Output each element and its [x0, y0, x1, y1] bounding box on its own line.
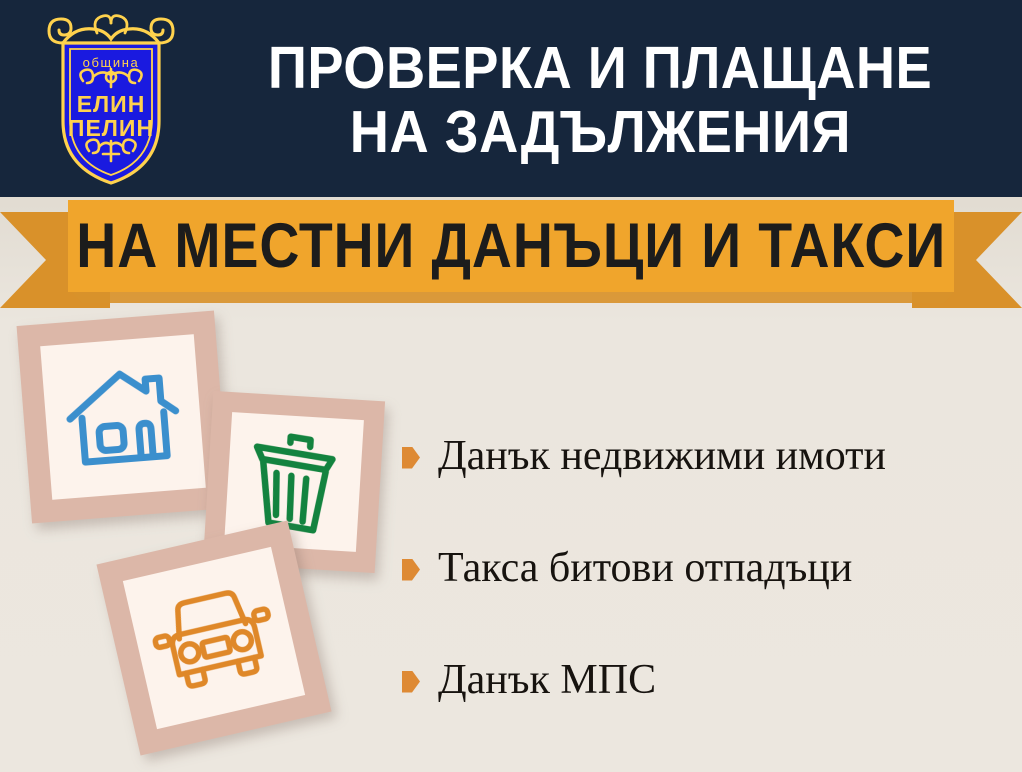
- list-item-label: Такса битови отпадъци: [438, 547, 852, 589]
- list-item[interactable]: Данък недвижими имоти: [402, 430, 1012, 482]
- arrow-bullet-icon: [402, 671, 420, 693]
- car-icon: [144, 578, 284, 699]
- svg-text:ЕЛИН: ЕЛИН: [77, 91, 146, 117]
- list-item-label: Данък недвижими имоти: [438, 435, 886, 477]
- stamp-card-house: [17, 311, 230, 524]
- house-icon: [60, 361, 186, 474]
- svg-text:ПЕЛИН: ПЕЛИН: [68, 115, 154, 141]
- list-item[interactable]: Такса битови отпадъци: [402, 542, 1012, 594]
- arrow-bullet-icon: [402, 447, 420, 469]
- ribbon-shadow: [72, 292, 954, 303]
- ribbon-label: НА МЕСТНИ ДАНЪЦИ И ТАКСИ: [76, 215, 946, 278]
- municipality-logo: община ЕЛИН ПЕЛИН: [41, 9, 181, 189]
- list-item[interactable]: Данък МПС: [402, 654, 1012, 706]
- ribbon-bar: НА МЕСТНИ ДАНЪЦИ И ТАКСИ: [68, 200, 954, 292]
- title-line-2: НА ЗАДЪЛЖЕНИЯ: [349, 101, 850, 164]
- list-item-label: Данък МПС: [438, 659, 656, 701]
- arrow-bullet-icon: [402, 559, 420, 581]
- stamp-paper: [40, 334, 206, 500]
- title-line-1: ПРОВЕРКА И ПЛАЩАНЕ: [268, 37, 932, 100]
- trash-bin-icon: [243, 427, 345, 537]
- tax-type-list: Данък недвижими имоти Такса битови отпад…: [402, 430, 1012, 706]
- page-title: ПРОВЕРКА И ПЛАЩАНЕ НА ЗАДЪЛЖЕНИЯ: [190, 18, 1010, 183]
- subtitle-ribbon: НА МЕСТНИ ДАНЪЦИ И ТАКСИ: [0, 196, 1022, 321]
